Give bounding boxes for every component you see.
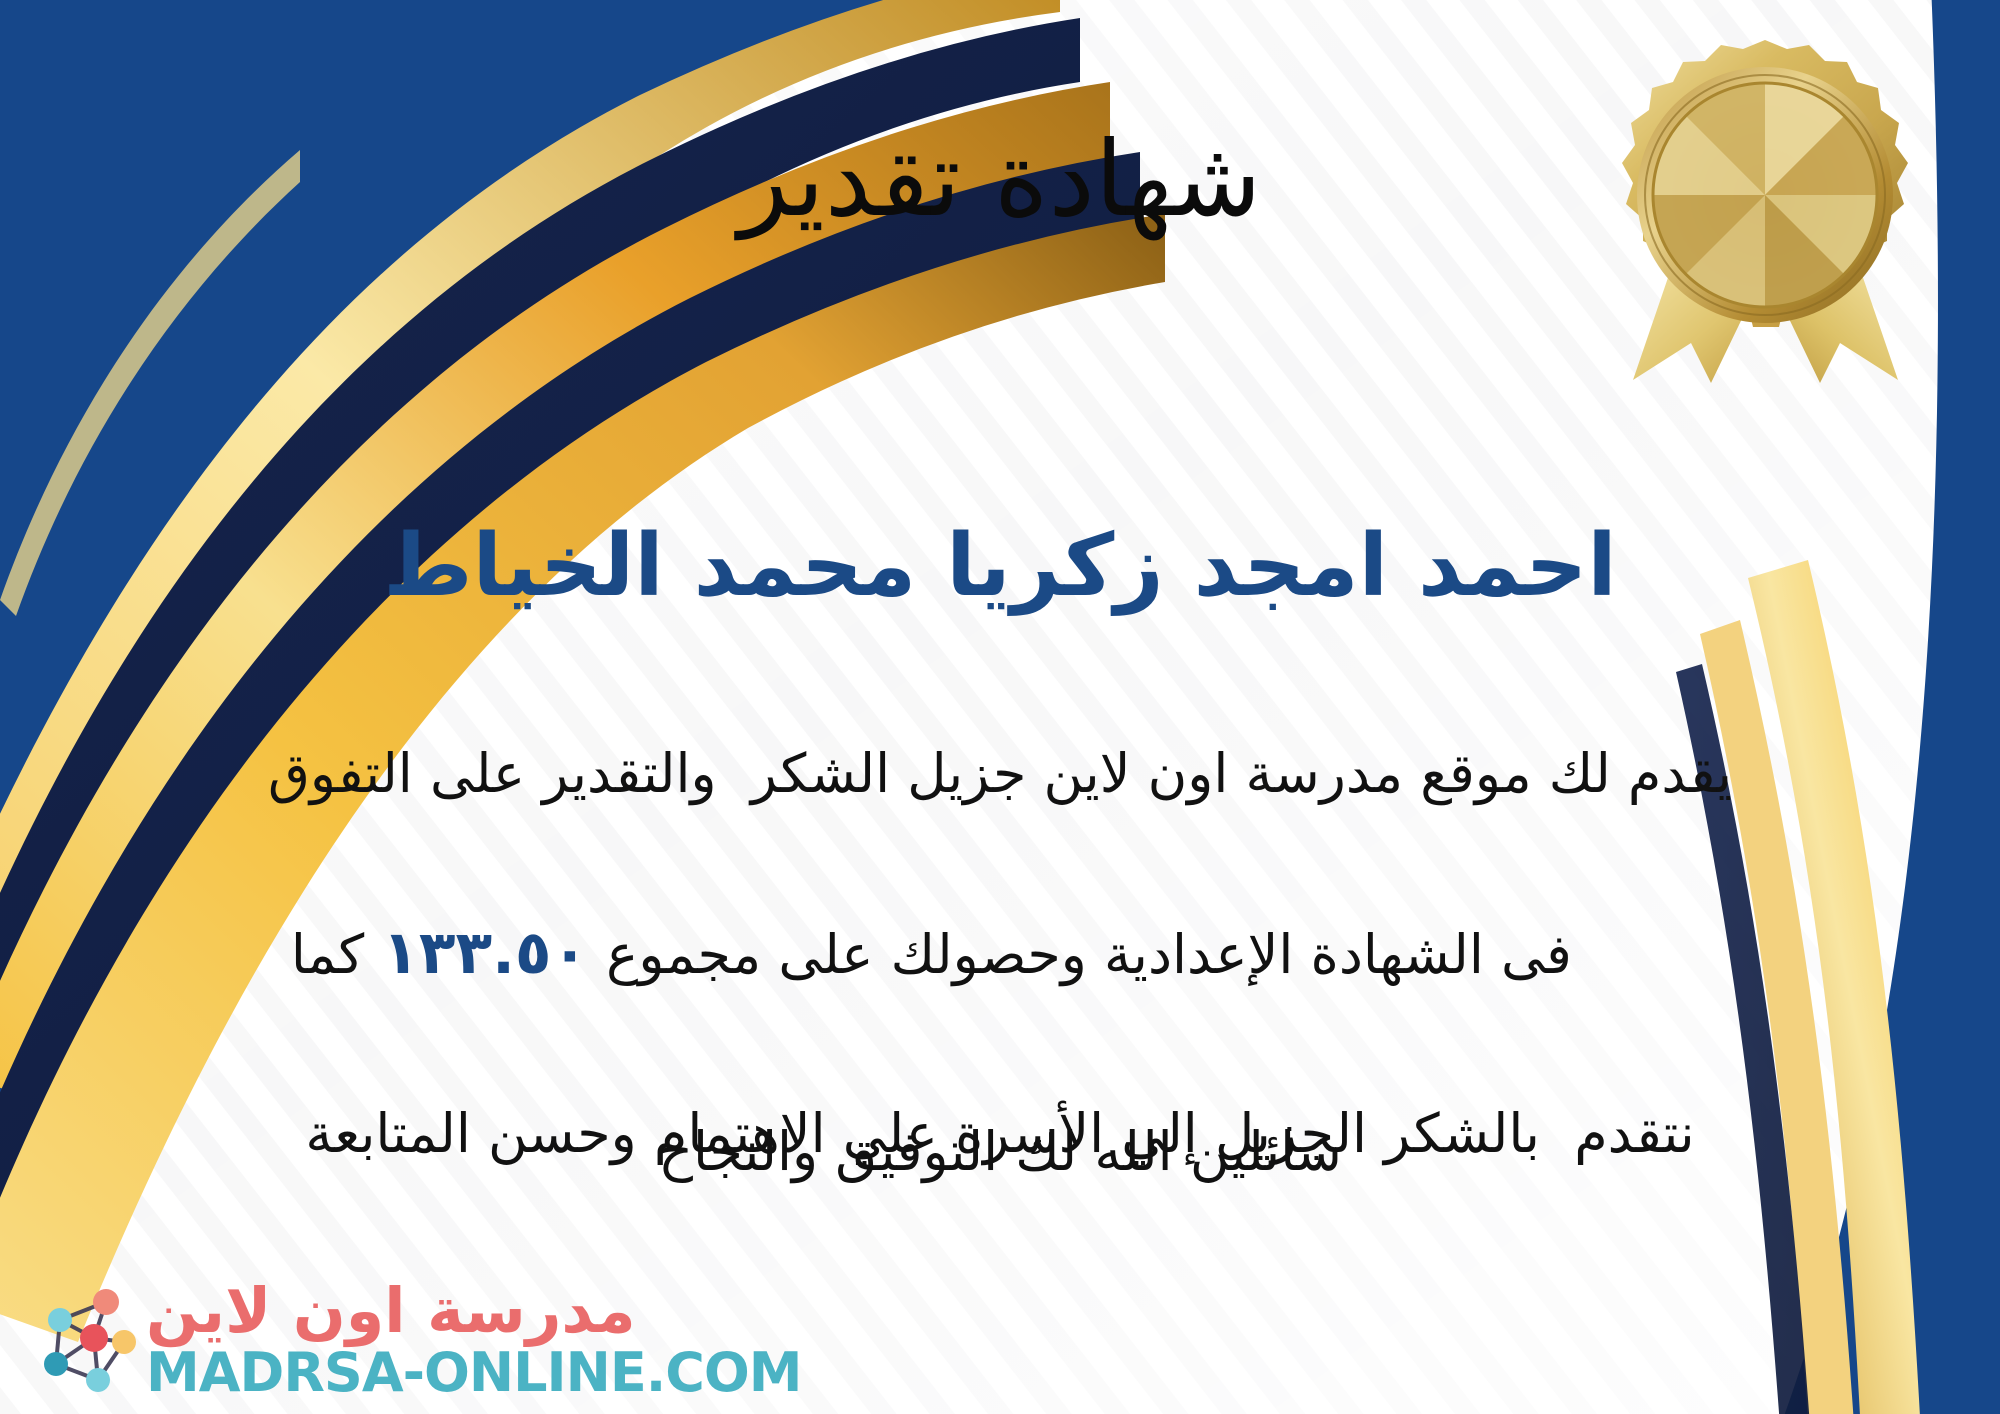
closing-line: سائلين الله لك التوفيق والنجاح <box>0 1120 2000 1183</box>
body-line-2-before-grade: فى الشهادة الإعدادية وحصولك على مجموع <box>606 923 1572 986</box>
grade-total-value: ١٣٣.٥٠ <box>364 918 606 988</box>
brand-logo[interactable]: مدرسة اون لاين MADRSA-ONLINE.COM <box>20 1280 802 1400</box>
certificate-canvas: شهادة تقدير احمد امجد زكريا محمد الخياط … <box>0 0 2000 1414</box>
network-nodes-icon <box>20 1280 140 1400</box>
body-line-2: فى الشهادة الإعدادية وحصولك على مجموع١٣٣… <box>150 817 1850 1089</box>
recipient-name: احمد امجد زكريا محمد الخياط <box>0 515 2000 618</box>
brand-arabic-name: مدرسة اون لاين <box>146 1280 636 1342</box>
brand-website: MADRSA-ONLINE.COM <box>146 1346 802 1400</box>
medal-disc <box>1653 83 1877 307</box>
brand-wordmark: مدرسة اون لاين MADRSA-ONLINE.COM <box>146 1280 802 1400</box>
gold-award-medal <box>1593 35 1938 425</box>
certificate-body: يقدم لك موقع مدرسة اون لاين جزيل الشكر و… <box>150 730 1850 1177</box>
body-line-2-after-grade: كما <box>291 923 364 986</box>
body-line-1: يقدم لك موقع مدرسة اون لاين جزيل الشكر و… <box>150 730 1850 817</box>
